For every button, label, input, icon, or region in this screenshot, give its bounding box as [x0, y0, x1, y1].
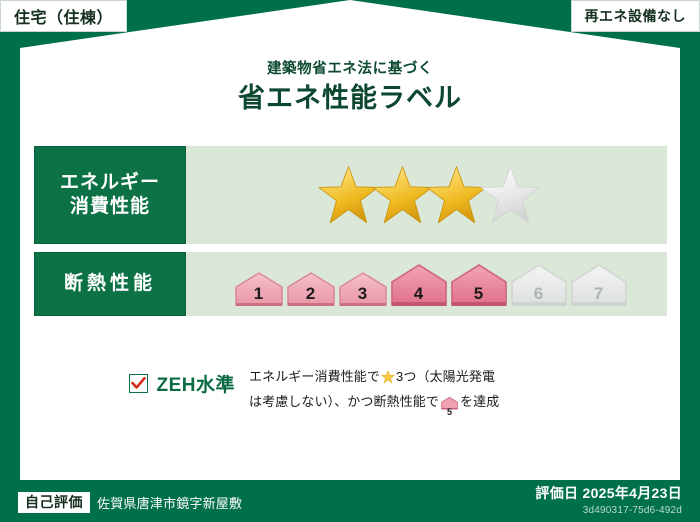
footer-right: 評価日 2025年4月23日 3d490317-75d6-492d — [535, 483, 682, 516]
row-insulation-performance: 断熱性能 — [34, 252, 667, 316]
house-number-5: 5 — [450, 285, 508, 302]
label-heading: 建築物省エネ法に基づく 省エネ性能ラベル — [0, 62, 700, 114]
house-number-4: 4 — [390, 285, 448, 302]
rating-rows: エネルギー 消費性能 — [34, 146, 667, 324]
footer-left: 自己評価 佐賀県唐津市鏡字新屋敷 — [18, 492, 242, 514]
zeh-label: ZEH水準 — [156, 370, 235, 397]
row-energy-consumption-body — [186, 146, 667, 244]
house-number-inline: 5 — [441, 408, 458, 417]
renewable-energy-tag-label: 再エネ設備なし — [585, 6, 687, 26]
zeh-badge: ZEH水準 — [34, 360, 249, 397]
row-energy-label-line1: エネルギー — [60, 171, 160, 195]
star-icon-inline — [381, 369, 395, 391]
evaluation-id: 3d490317-75d6-492d — [535, 505, 682, 516]
zeh-desc-line2-a: は考慮しない）、かつ断熱性能で — [249, 394, 439, 409]
checkbox-checked-icon — [129, 374, 148, 393]
row-insulation-label-line1: 断熱性能 — [64, 272, 156, 296]
zeh-description: エネルギー消費性能で3つ（太陽光発電 は考慮しない）、かつ断熱性能で5を達成 — [249, 360, 667, 418]
house-number-7: 7 — [570, 285, 628, 302]
house-icon-1: 1 — [234, 268, 284, 308]
house-icon-inline: 5 — [441, 395, 458, 417]
row-energy-consumption-label: エネルギー 消費性能 — [34, 146, 186, 244]
energy-performance-label: 住宅（住棟） 再エネ設備なし 建築物省エネ法に基づく 省エネ性能ラベル エネルギ… — [0, 0, 700, 522]
zeh-desc-line1-b: 3つ（太陽光発電 — [396, 369, 495, 384]
label-footer: 自己評価 佐賀県唐津市鏡字新屋敷 評価日 2025年4月23日 3d490317… — [0, 480, 700, 522]
star-rating — [317, 164, 542, 226]
house-number-2: 2 — [286, 285, 336, 302]
evaluation-date: 評価日 2025年4月23日 — [535, 483, 682, 503]
house-rating: 1 2 3 — [234, 261, 628, 308]
zeh-desc-line2-b: を達成 — [460, 394, 499, 409]
heading-title: 省エネ性能ラベル — [0, 83, 700, 114]
house-icon-6: 6 — [510, 261, 568, 308]
house-number-6: 6 — [510, 285, 568, 302]
row-insulation-label: 断熱性能 — [34, 252, 186, 316]
house-icon-5: 5 — [450, 261, 508, 308]
star-icon-empty-4 — [479, 164, 542, 226]
zeh-desc-line1-a: エネルギー消費性能で — [249, 369, 380, 384]
building-type-tag-label: 住宅（住棟） — [14, 4, 113, 28]
property-address: 佐賀県唐津市鏡字新屋敷 — [97, 493, 242, 512]
row-energy-label-line2: 消費性能 — [70, 195, 150, 219]
zeh-note: ZEH水準 エネルギー消費性能で3つ（太陽光発電 は考慮しない）、かつ断熱性能で… — [34, 360, 667, 418]
row-energy-consumption: エネルギー 消費性能 — [34, 146, 667, 244]
self-evaluation-badge: 自己評価 — [18, 492, 90, 514]
house-icon-4: 4 — [390, 261, 448, 308]
house-number-1: 1 — [234, 285, 284, 302]
house-number-3: 3 — [338, 285, 388, 302]
heading-subtitle: 建築物省エネ法に基づく — [0, 62, 700, 78]
building-type-tag: 住宅（住棟） — [0, 0, 127, 32]
row-insulation-body: 1 2 3 — [186, 252, 667, 316]
house-icon-2: 2 — [286, 268, 336, 308]
house-icon-3: 3 — [338, 268, 388, 308]
renewable-energy-tag: 再エネ設備なし — [571, 0, 700, 32]
house-icon-7: 7 — [570, 261, 628, 308]
